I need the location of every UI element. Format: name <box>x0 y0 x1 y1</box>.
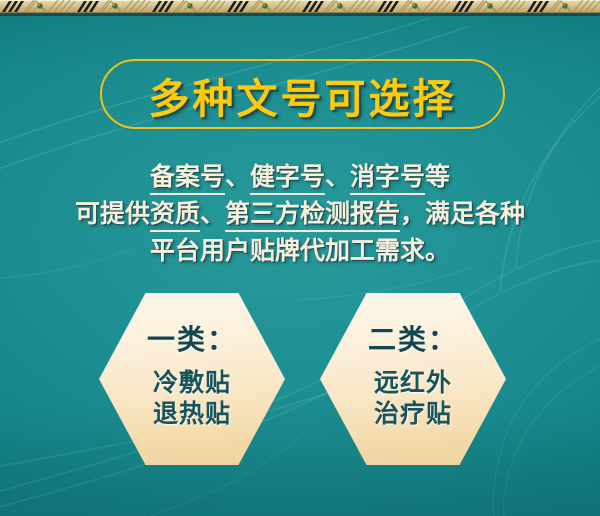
hexagon-1-content: 一类： 冷敷贴 退热贴 <box>99 293 285 465</box>
category-hexagon-1: 一类： 冷敷贴 退热贴 <box>99 293 285 465</box>
hexagon-2-items: 远红外 治疗贴 <box>374 367 452 429</box>
hexagon-2-item-2: 治疗贴 <box>374 398 452 429</box>
hexagon-2-item-1: 远红外 <box>374 367 452 398</box>
hexagon-2-title: 二类： <box>368 323 458 357</box>
category-hexagon-2: 二类： 远红外 治疗贴 <box>320 293 506 465</box>
hexagon-1-items: 冷敷贴 退热贴 <box>153 367 231 429</box>
page-title: 多种文号可选择 <box>100 60 505 130</box>
top-ornamental-border <box>0 0 600 16</box>
border-underline <box>0 13 600 16</box>
hexagon-1-item-2: 退热贴 <box>153 398 231 429</box>
promo-poster: 多种文号可选择 备案号、健字号、消字号等 可提供资质、第三方检测报告，满足各种 … <box>0 0 600 516</box>
hexagon-2-content: 二类： 远红外 治疗贴 <box>320 293 506 465</box>
hexagon-1-item-1: 冷敷贴 <box>153 367 231 398</box>
border-band <box>0 0 600 13</box>
hexagon-1-title: 一类： <box>147 323 237 357</box>
